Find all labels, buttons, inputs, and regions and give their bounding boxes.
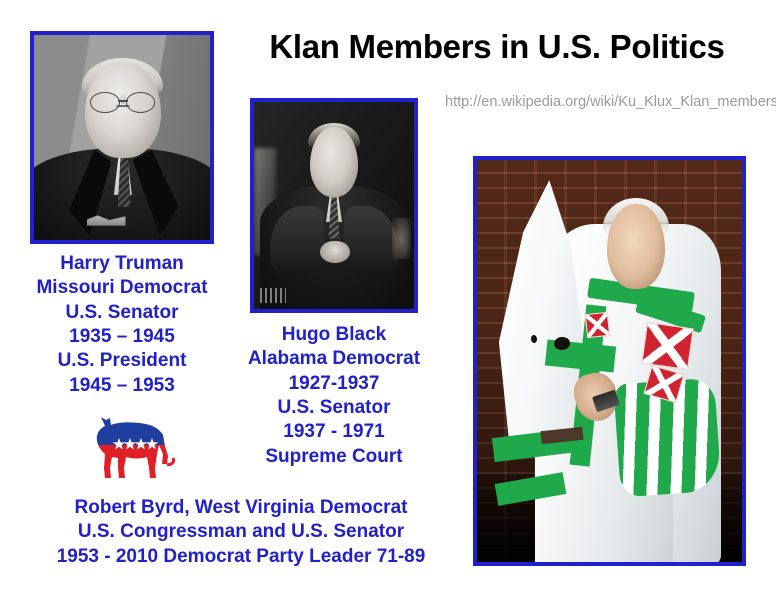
caption-line: 1945 – 1953 bbox=[14, 374, 230, 398]
caption-line: Supreme Court bbox=[228, 445, 440, 469]
black-photo-watermark bbox=[260, 288, 286, 302]
byrd-photo-content bbox=[477, 160, 742, 562]
harry-truman-photo bbox=[30, 31, 214, 244]
donkey-body bbox=[85, 412, 183, 484]
truman-photo-content bbox=[34, 35, 210, 240]
caption-line: Alabama Democrat bbox=[228, 347, 440, 371]
caption-line: Harry Truman bbox=[14, 252, 230, 276]
robert-byrd-photo bbox=[473, 156, 746, 566]
caption-line: Robert Byrd, West Virginia Democrat bbox=[16, 496, 466, 520]
caption-line: 1937 - 1971 bbox=[228, 420, 440, 444]
byrd-confederate-patch-small bbox=[584, 312, 610, 338]
caption-line: 1953 - 2010 Democrat Party Leader 71-89 bbox=[16, 545, 466, 569]
black-photo-content bbox=[254, 102, 414, 309]
caption-line: U.S. President bbox=[14, 349, 230, 373]
caption-line: Hugo Black bbox=[228, 323, 440, 347]
page-title: Klan Members in U.S. Politics bbox=[232, 30, 762, 65]
truman-lens-left bbox=[90, 92, 119, 112]
democratic-party-donkey-icon bbox=[85, 412, 183, 484]
black-face bbox=[310, 127, 358, 197]
caption-line: U.S. Senator bbox=[228, 396, 440, 420]
harry-truman-caption: Harry Truman Missouri Democrat U.S. Sena… bbox=[14, 252, 230, 398]
robert-byrd-caption: Robert Byrd, West Virginia Democrat U.S.… bbox=[16, 496, 466, 569]
source-url-text: http://en.wikipedia.org/wiki/Ku_Klux_Kla… bbox=[445, 92, 745, 113]
caption-line: 1927-1937 bbox=[228, 372, 440, 396]
black-chair-highlight bbox=[392, 218, 411, 259]
byrd-face bbox=[607, 204, 665, 288]
donkey-tail bbox=[167, 458, 174, 465]
caption-line: U.S. Congressman and U.S. Senator bbox=[16, 520, 466, 544]
truman-eyeglasses bbox=[90, 92, 155, 110]
hugo-black-photo bbox=[250, 98, 418, 313]
caption-line: 1935 – 1945 bbox=[14, 325, 230, 349]
truman-lens-right bbox=[126, 92, 155, 112]
hugo-black-caption: Hugo Black Alabama Democrat 1927-1937 U.… bbox=[228, 323, 440, 469]
byrd-confederate-patch-shoulder bbox=[641, 322, 693, 370]
caption-line: U.S. Senator bbox=[14, 301, 230, 325]
caption-line: Missouri Democrat bbox=[14, 276, 230, 300]
truman-glasses-bridge bbox=[118, 100, 128, 102]
